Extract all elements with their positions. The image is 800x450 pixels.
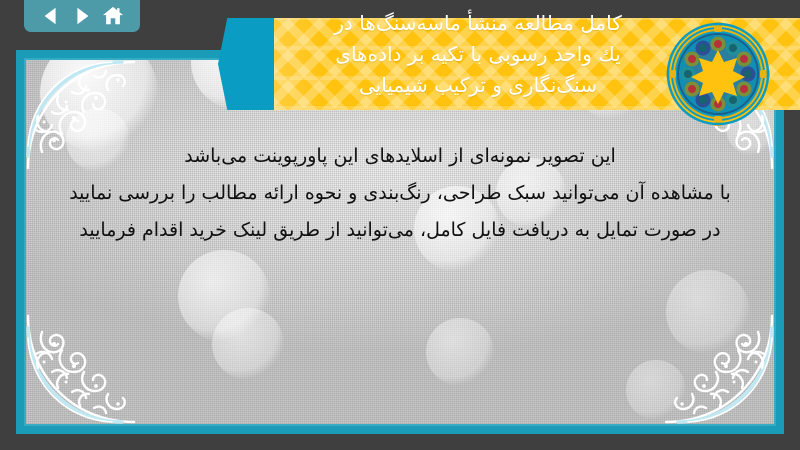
triangle-left-icon[interactable] [40,5,62,27]
navigation-bar[interactable] [24,0,140,32]
slide-stage: این تصویر نمونه‌ای از اسلایدهای این پاور… [0,0,800,450]
title-line: کامل مطالعه منشأ ماسه‌سنگ‌ها در [218,8,738,39]
body-line: این تصویر نمونه‌ای از اسلایدهای این پاور… [26,138,774,175]
title-line: یك واحد رسوبی با تکیه بر داده‌های [218,39,738,70]
body-line: در صورت تمایل به دریافت فایل کامل، می‌تو… [26,212,774,249]
slide-body-text: این تصویر نمونه‌ای از اسلایدهای این پاور… [26,138,774,249]
body-line: با مشاهده آن می‌توانید سبک طراحی، رنگ‌بن… [26,175,774,212]
title-banner: کامل مطالعه منشأ ماسه‌سنگ‌ها در یك واحد … [218,18,800,110]
title-line: سنگ‌نگاری و ترکیب شیمیایی [218,70,738,101]
triangle-right-icon[interactable] [71,5,93,27]
home-icon[interactable] [102,5,124,27]
corner-flourish-bottom-right-icon [658,308,778,428]
persian-medallion-icon [666,22,770,126]
slide-title: کامل مطالعه منشأ ماسه‌سنگ‌ها در یك واحد … [218,8,738,101]
corner-flourish-bottom-left-icon [22,308,142,428]
